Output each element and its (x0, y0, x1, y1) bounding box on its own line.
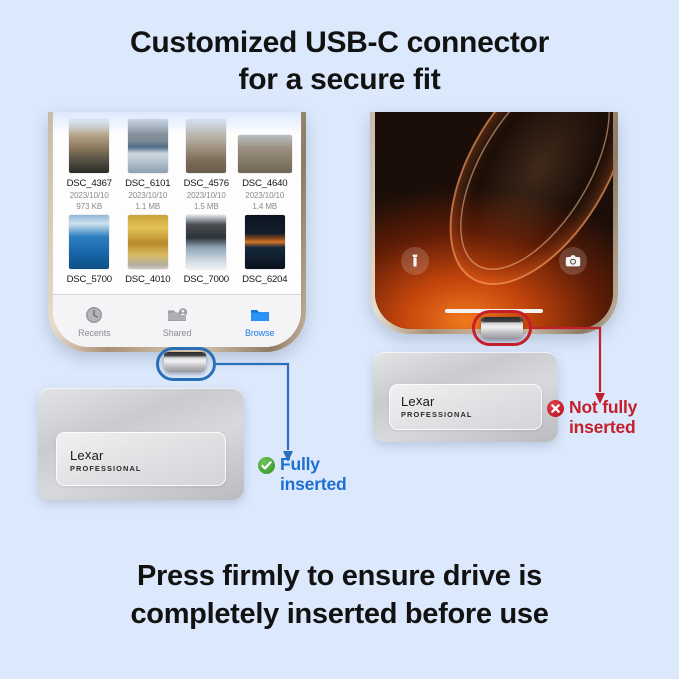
callout-line-2: inserted (569, 418, 637, 438)
callout-line-1: Not fully (569, 397, 637, 417)
footer-text: Press firmly to ensure drive is complete… (0, 558, 679, 633)
poster-canvas: Customized USB-C connector for a secure … (0, 0, 679, 679)
x-circle-icon (547, 400, 564, 417)
callout-not-fully-inserted: Not fully inserted (547, 398, 637, 437)
callout-text: Not fully inserted (569, 398, 637, 437)
footer-line-1: Press firmly to ensure drive is (137, 560, 542, 592)
footer-line-2: completely inserted before use (0, 596, 679, 634)
